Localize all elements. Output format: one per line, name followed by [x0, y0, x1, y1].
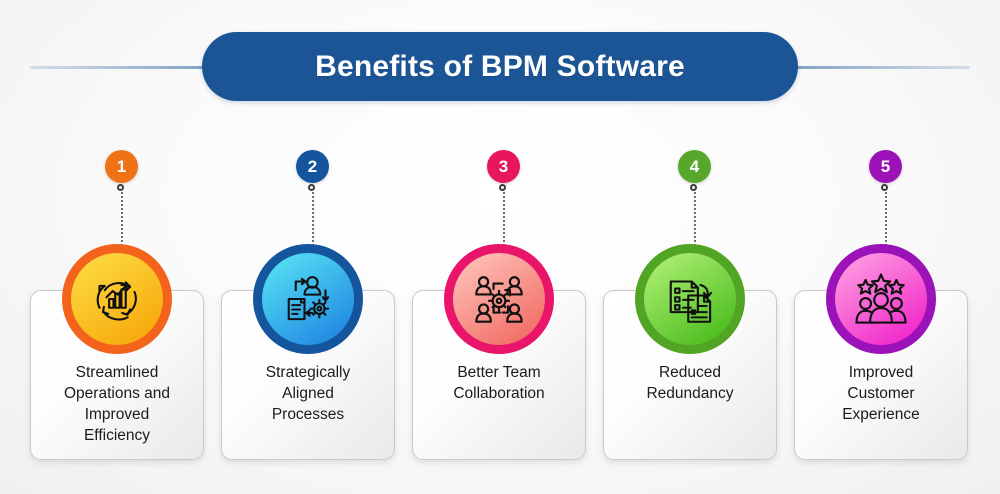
connector-line: [503, 188, 506, 250]
disc-face: [835, 253, 927, 345]
benefit-label: Reduced Redundancy: [603, 362, 777, 404]
benefit-number: 1: [117, 157, 126, 177]
documents-redundancy-icon: [662, 271, 718, 327]
benefit-label: Improved Customer Experience: [794, 362, 968, 425]
benefit-number-badge: 1: [105, 150, 138, 183]
disc-face: [453, 253, 545, 345]
benefit-number-badge: 2: [296, 150, 329, 183]
benefit-icon-disc: [253, 244, 363, 354]
growth-cycle-icon: [89, 271, 145, 327]
benefit-number: 2: [308, 157, 317, 177]
connector-dot-icon: [881, 184, 888, 191]
benefit-columns: 1: [0, 0, 1000, 494]
team-collaboration-icon: [470, 270, 528, 328]
benefit-label: Streamlined Operations and Improved Effi…: [30, 362, 204, 446]
infographic-canvas: Benefits of BPM Software 1: [0, 0, 1000, 494]
connector-dot-icon: [308, 184, 315, 191]
benefit-label: Strategically Aligned Processes: [221, 362, 395, 425]
benefit-label: Better Team Collaboration: [412, 362, 586, 404]
connector-line: [121, 188, 124, 250]
connector-line: [694, 188, 697, 250]
benefit-icon-disc: [635, 244, 745, 354]
disc-face: [262, 253, 354, 345]
connector-line: [885, 188, 888, 250]
customer-rating-icon: [852, 270, 910, 328]
benefit-number: 5: [881, 157, 890, 177]
connector-dot-icon: [499, 184, 506, 191]
connector-line: [312, 188, 315, 250]
benefit-icon-disc: [62, 244, 172, 354]
process-alignment-icon: [280, 271, 336, 327]
benefit-number: 3: [499, 157, 508, 177]
benefit-number-badge: 5: [869, 150, 902, 183]
connector-dot-icon: [690, 184, 697, 191]
benefit-number-badge: 4: [678, 150, 711, 183]
disc-face: [644, 253, 736, 345]
benefit-icon-disc: [826, 244, 936, 354]
connector-dot-icon: [117, 184, 124, 191]
benefit-number-badge: 3: [487, 150, 520, 183]
benefit-number: 4: [690, 157, 699, 177]
benefit-icon-disc: [444, 244, 554, 354]
disc-face: [71, 253, 163, 345]
